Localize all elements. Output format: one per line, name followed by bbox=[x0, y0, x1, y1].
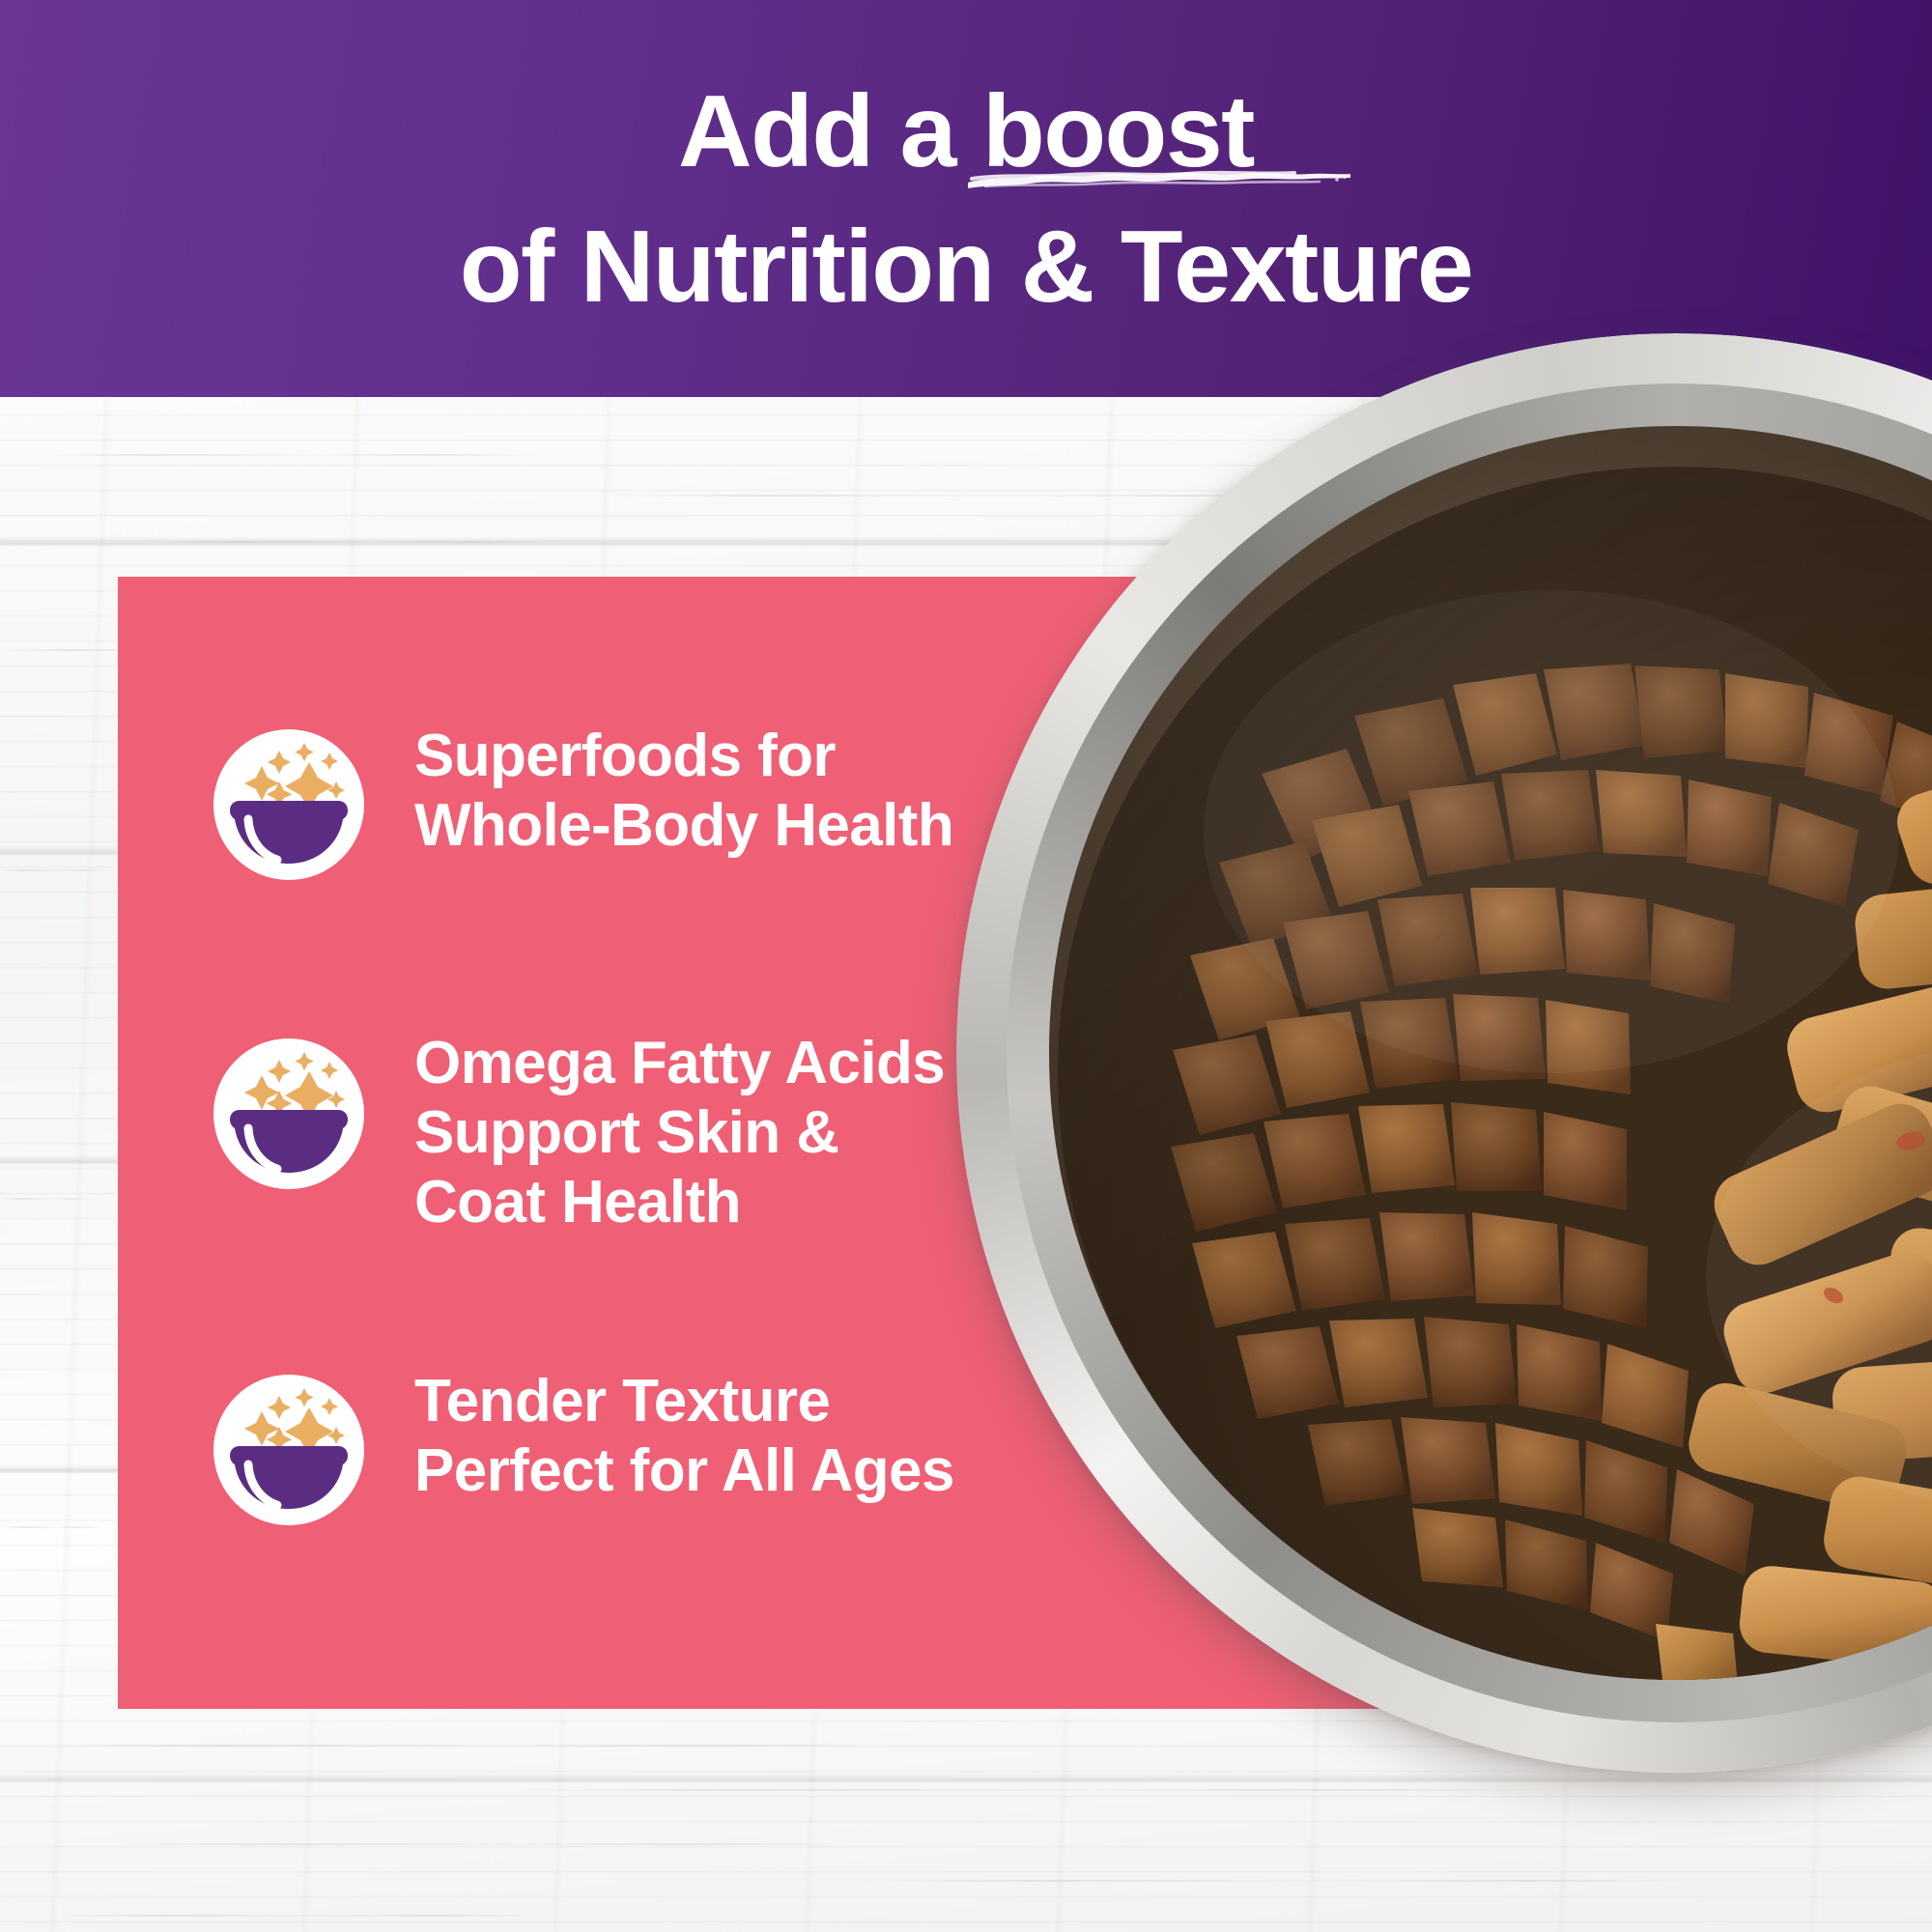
header-title-block: Add a boost of Nutrition & Texture bbox=[0, 80, 1932, 318]
benefit-item-2: Omega Fatty Acids Support Skin & Coat He… bbox=[212, 1029, 945, 1237]
benefit-label-2: Omega Fatty Acids Support Skin & Coat He… bbox=[414, 1029, 945, 1237]
sparkle-bowl-icon bbox=[212, 1037, 366, 1191]
header-title-line-2: of Nutrition & Texture bbox=[0, 215, 1932, 318]
marketing-image-canvas: Add a boost of Nutrition & Texture bbox=[0, 0, 1932, 1932]
benefits-list: Superfoods for Whole-Body Health bbox=[118, 577, 1425, 1709]
sparkle-bowl-icon bbox=[212, 727, 366, 882]
benefit-label-1: Superfoods for Whole-Body Health bbox=[414, 722, 953, 861]
benefit-label-3: Tender Texture Perfect for All Ages bbox=[414, 1367, 954, 1506]
sparkle-bowl-icon bbox=[212, 1373, 366, 1527]
benefit-item-3: Tender Texture Perfect for All Ages bbox=[212, 1367, 954, 1527]
benefit-item-1: Superfoods for Whole-Body Health bbox=[212, 722, 953, 882]
brush-underline-icon bbox=[966, 166, 1352, 191]
